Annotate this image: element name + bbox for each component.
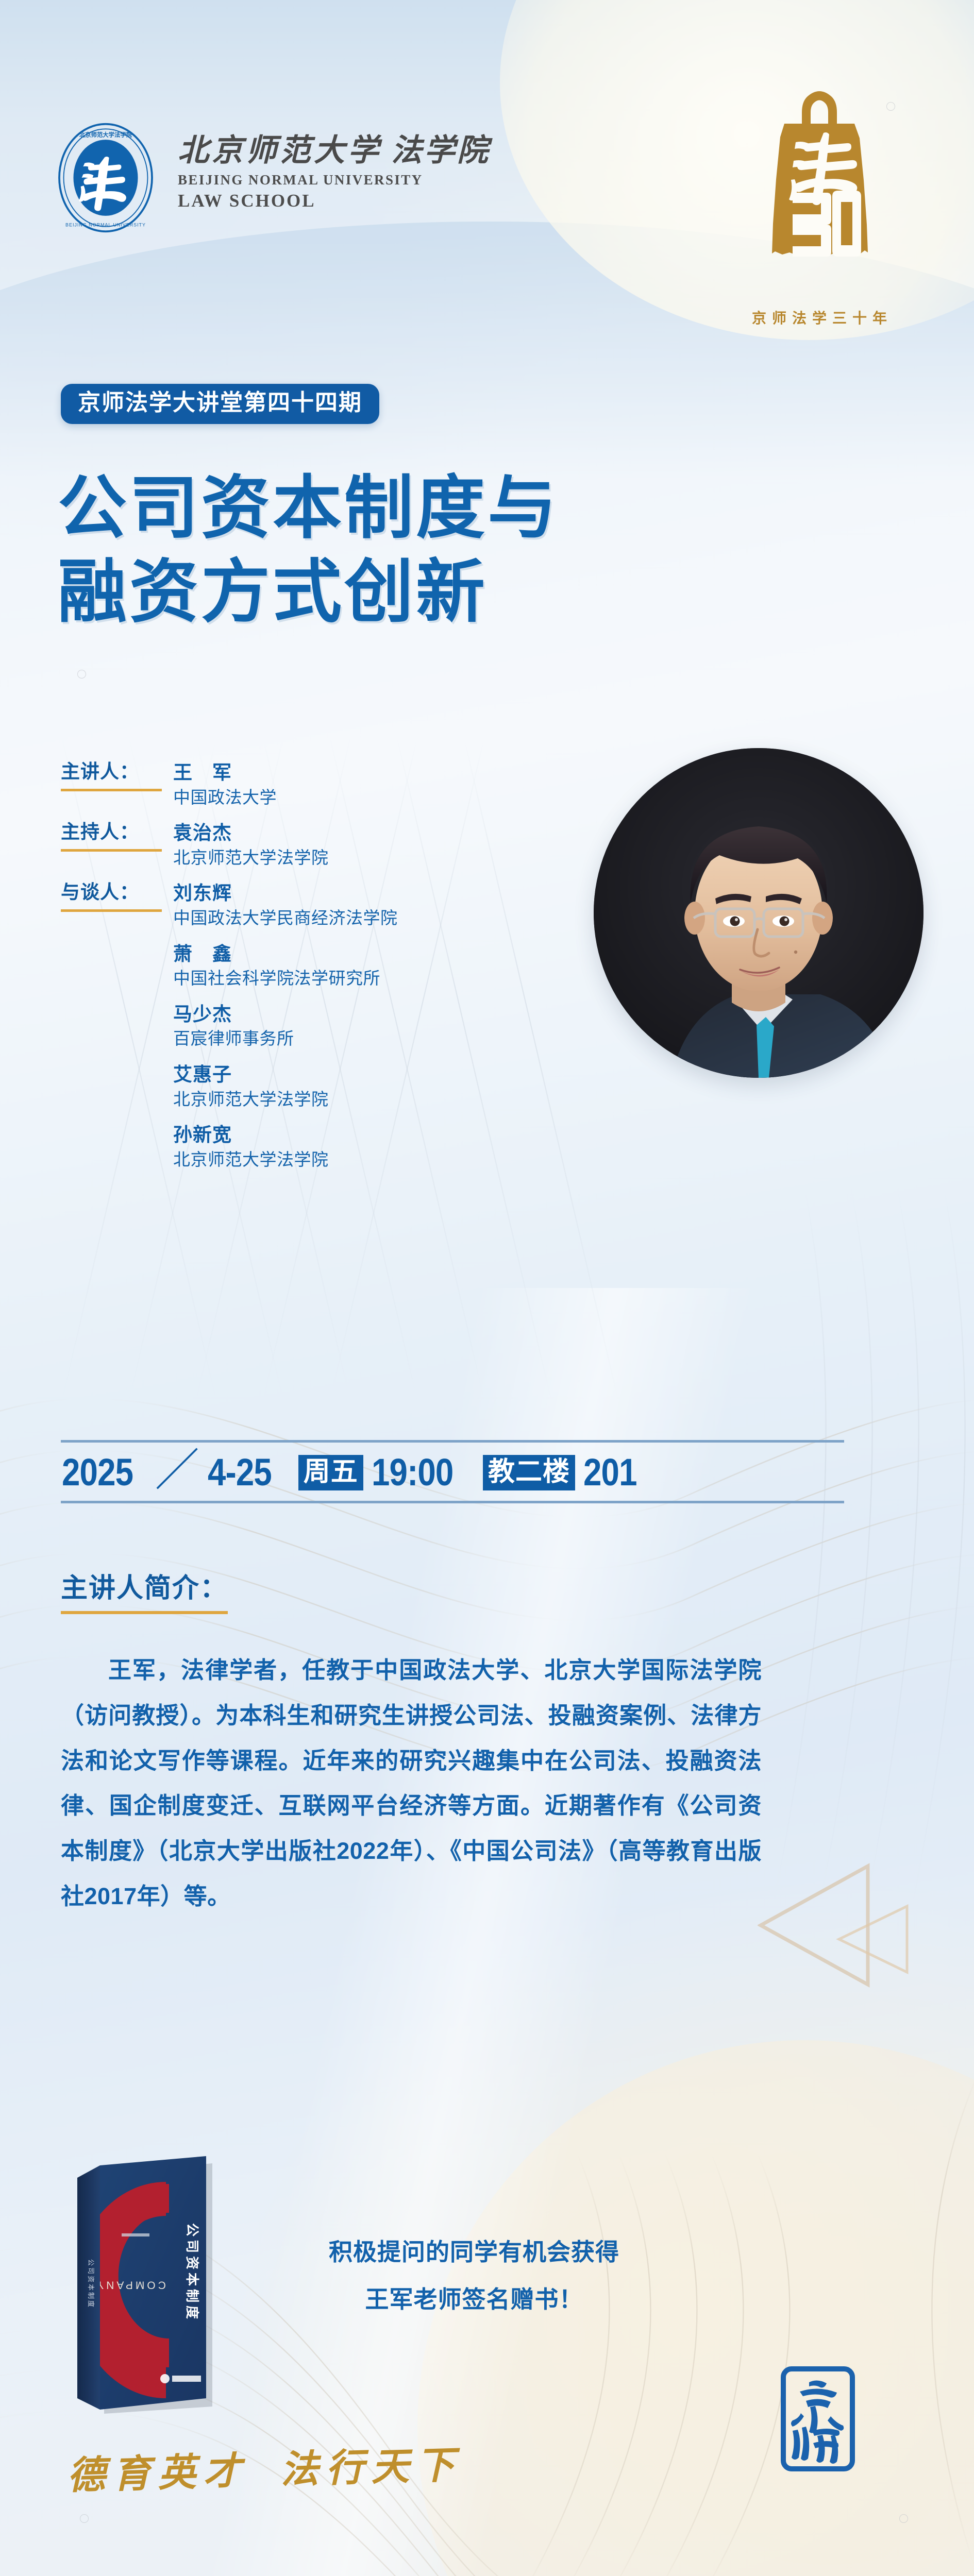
- person-name: 孙新宽: [173, 1124, 525, 1146]
- svg-text:北京师范大学法学院: 北京师范大学法学院: [79, 131, 132, 138]
- slogan-left: 德育英才: [66, 2450, 249, 2498]
- person-row-discussant-1: 与谈人： 刘东辉 中国政法大学民商经济法学院: [61, 882, 525, 929]
- person-row-speaker: 主讲人： 王 军 中国政法大学: [61, 761, 525, 808]
- svg-text:BEIJING NORMAL UNIVERSITY: BEIJING NORMAL UNIVERSITY: [65, 223, 146, 228]
- emblem-caption: 京师法学三十年: [737, 307, 902, 328]
- person-affiliation: 北京师范大学法学院: [173, 1148, 525, 1171]
- poster-header: 北京师范大学法学院 BEIJING NORMAL UNIVERSITY 北京师范…: [0, 0, 974, 361]
- title-line-1: 公司资本制度与: [58, 470, 559, 547]
- event-time: 19:00: [372, 1453, 453, 1492]
- person-affiliation: 百宸律师事务所: [173, 1027, 525, 1050]
- event-weekday: 周五: [298, 1455, 363, 1490]
- school-name-block: 北京师范大学法学院 BEIJING NORMAL UNIVERSITY LAW …: [178, 135, 490, 211]
- person-affiliation: 中国社会科学院法学研究所: [173, 967, 525, 990]
- title-line-2: 融资方式创新: [58, 550, 559, 634]
- bio-text: 王军，法律学者，任教于中国政法大学、北京大学国际法学院（访问教授）。为本科生和研…: [61, 1648, 762, 1919]
- promo-line-2: 王军老师签名赠书！: [278, 2276, 670, 2323]
- person-affiliation: 北京师范大学法学院: [173, 846, 329, 869]
- promo-line-1: 积极提问的同学有机会获得: [278, 2228, 670, 2276]
- role-label-speaker: 主讲人：: [61, 761, 162, 791]
- decorative-dot: [77, 670, 86, 679]
- triangle-decoration-icon: [758, 1850, 974, 2056]
- poster-canvas: 北京师范大学法学院 BEIJING NORMAL UNIVERSITY 北京师范…: [0, 0, 974, 2576]
- event-year: 2025: [62, 1453, 133, 1492]
- person-name: 艾惠子: [173, 1063, 525, 1086]
- people-list: 主讲人： 王 军 中国政法大学 主持人： 袁治杰 北京师范大学法学院 与谈人： …: [61, 761, 525, 1184]
- event-building: 教二楼: [483, 1455, 575, 1490]
- person-name: 王 军: [173, 761, 277, 784]
- book-cover-image: COMPANY 公司资本制度 公司资本制度: [68, 2156, 238, 2414]
- person-name: 萧 鑫: [173, 943, 525, 965]
- footer-slogan: 德育英才法行天下: [66, 2434, 463, 2500]
- person-row-discussant-5: 孙新宽 北京师范大学法学院: [173, 1124, 525, 1171]
- person-affiliation: 中国政法大学民商经济法学院: [173, 907, 398, 929]
- date-separator: ／: [155, 1448, 199, 1493]
- person-affiliation: 北京师范大学法学院: [173, 1088, 525, 1111]
- person-name: 刘东辉: [173, 882, 398, 905]
- person-row-discussant-4: 艾惠子 北京师范大学法学院: [173, 1063, 525, 1110]
- gold-bell-icon: [737, 82, 902, 304]
- person-name: 袁治杰: [173, 822, 329, 844]
- speaker-portrait: [594, 748, 923, 1078]
- event-datetime-bar: 2025 ／ 4-25 周五 19:00 教二楼 201: [61, 1440, 844, 1503]
- page-title: 公司资本制度与 融资方式创新: [58, 466, 559, 635]
- decorative-dot: [80, 2514, 89, 2523]
- series-badge: 京师法学大讲堂第四十四期: [61, 384, 379, 424]
- svg-text:公司资本制度: 公司资本制度: [184, 2223, 200, 2322]
- school-name-en-line2: LAW SCHOOL: [178, 191, 490, 211]
- person-row-discussant-2: 萧 鑫 中国社会科学院法学研究所: [173, 943, 525, 990]
- bio-heading: 主讲人简介：: [61, 1566, 228, 1614]
- person-row-host: 主持人： 袁治杰 北京师范大学法学院: [61, 822, 525, 869]
- school-name-cn-law: 法学院: [391, 133, 490, 167]
- role-label-discussants: 与谈人：: [61, 882, 162, 912]
- svg-text:COMPANY: COMPANY: [94, 2279, 166, 2291]
- person-row-discussant-3: 马少杰 百宸律师事务所: [173, 1003, 525, 1050]
- anniversary-emblem: 京师法学三十年: [737, 82, 902, 350]
- jingshi-seal-icon: [779, 2365, 857, 2473]
- datebar-rule-bottom: [61, 1501, 844, 1503]
- school-name-cn: 北京师范大学: [178, 133, 382, 167]
- event-room: 201: [583, 1453, 637, 1492]
- decorative-dot: [899, 2514, 908, 2523]
- svg-text:公司资本制度: 公司资本制度: [87, 2259, 95, 2309]
- person-name: 马少杰: [173, 1003, 525, 1026]
- person-affiliation: 中国政法大学: [173, 786, 277, 809]
- role-label-host: 主持人：: [61, 822, 162, 852]
- event-date: 4-25: [208, 1453, 272, 1492]
- bnu-law-school-crest-icon: 北京师范大学法学院 BEIJING NORMAL UNIVERSITY: [57, 122, 155, 233]
- promo-text: 积极提问的同学有机会获得 王军老师签名赠书！: [278, 2228, 670, 2323]
- slogan-right: 法行天下: [280, 2444, 462, 2492]
- school-name-en-line1: BEIJING NORMAL UNIVERSITY: [178, 172, 490, 188]
